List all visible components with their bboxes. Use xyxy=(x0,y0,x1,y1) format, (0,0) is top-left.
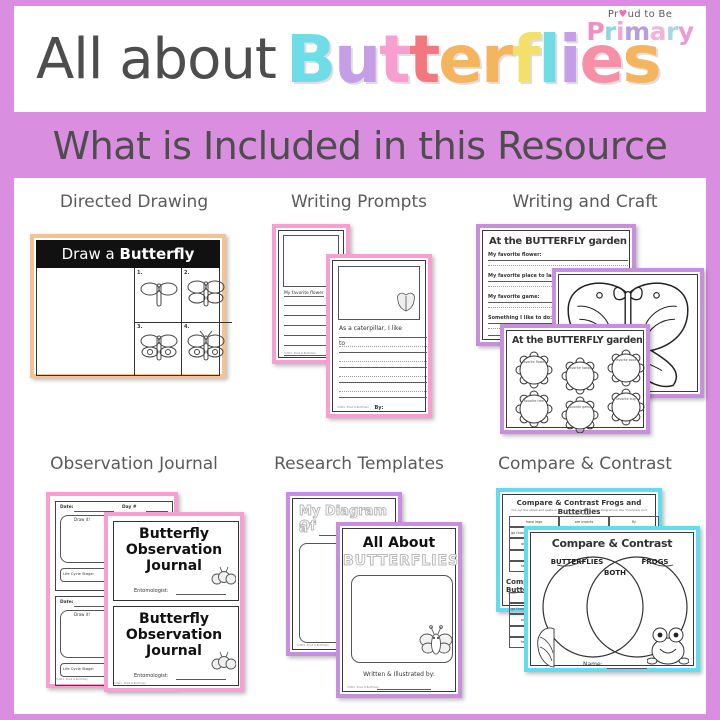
title-letter-7: l xyxy=(538,21,559,98)
butterfly-clipart-icon xyxy=(419,623,453,657)
title-letter-2: t xyxy=(379,21,409,98)
footer-credit: ©2021 - Proud to Be Primary xyxy=(56,678,88,681)
butterfly-step4-icon xyxy=(185,330,227,370)
flower-label-4: favorite tree xyxy=(524,399,544,403)
title-letter-6: f xyxy=(512,21,539,98)
garden-prompt-1: My favorite flower: xyxy=(488,252,542,258)
cover-line-1: Butterfly xyxy=(110,611,238,627)
journal-draw-label: Draw it! xyxy=(74,612,90,617)
title-letter-1: u xyxy=(334,21,379,98)
journal-date-label: Date: xyxy=(60,505,73,510)
frog-icon xyxy=(647,619,689,667)
section-title-directed-drawing: Directed Drawing xyxy=(14,192,254,212)
logo-primary: Primary xyxy=(584,19,696,44)
title-letter-4: e xyxy=(438,21,481,98)
footer-credit: ©2021 - Proud to Be Primary xyxy=(114,682,146,685)
garden-prompt-2: My favorite place to land: xyxy=(488,273,560,279)
caterpillar-icon xyxy=(210,651,236,673)
diagram-line-2: a xyxy=(299,521,308,536)
cover-line-2: Observation xyxy=(110,627,238,643)
flower-label-5: favorite game xyxy=(569,405,591,409)
footer-credit: ©2021 - Proud to Be Primary xyxy=(347,686,379,689)
journal-entomologist-label: Entomologist: xyxy=(134,588,169,594)
journal-day-label: Day # xyxy=(122,505,137,510)
journal-entomologist-label: Entomologist: xyxy=(134,673,169,679)
sort-instructions: Cut out the strips and paste in the corr… xyxy=(509,508,649,516)
flower-label-2: favorite hobby xyxy=(568,366,591,370)
footer-credit: ©2021 - Proud to Be Primary xyxy=(284,352,316,355)
journal-stage-label: Life Cycle Stage: xyxy=(63,572,94,576)
section-title-writing-and-craft: Writing and Craft xyxy=(464,192,706,212)
venn-label-left: BUTTERFLIES xyxy=(551,558,604,566)
resource-preview-page: All about Butterflies Pr♥ud to Be Primar… xyxy=(0,0,720,720)
butterfly-garden-flower-sheet[interactable]: At the BUTTERFLY garden f xyxy=(500,324,650,434)
title-plain: All about xyxy=(36,27,276,92)
flower-label-6: favorite bug xyxy=(616,397,635,401)
cover-line-2: Observation xyxy=(110,542,238,558)
journal-draw-label: Draw it! xyxy=(74,517,90,522)
writing-prompt-sheet-front[interactable]: As a caterpillar, I like to By: ©2021 - … xyxy=(326,254,432,418)
flower-grid: favorite flower favorite hobby favorite … xyxy=(511,349,649,433)
title-letter-3: t xyxy=(409,21,439,98)
research-title-line2: BUTTERFLIES xyxy=(343,553,455,569)
venn-name-label: Name: xyxy=(583,661,603,668)
caterpillar-icon xyxy=(210,566,236,588)
garden-heading: At the BUTTERFLY garden xyxy=(489,236,627,247)
subtitle-banner: What is Included in this Resource xyxy=(0,118,720,174)
butterfly-clipart-icon xyxy=(395,291,417,315)
flower-label-1: favorite flower xyxy=(522,360,546,364)
garden-prompt-4: Something I like to do: xyxy=(488,315,552,321)
section-title-compare-contrast: Compare & Contrast xyxy=(464,454,706,474)
flower-label-3: favorite book xyxy=(615,358,636,362)
title-letter-5: r xyxy=(481,21,512,98)
butterfly-step1-icon xyxy=(138,276,180,316)
butterfly-step2-icon xyxy=(185,276,227,316)
garden-prompt-3: My favorite game: xyxy=(488,294,539,300)
draw-a-label: Draw a xyxy=(62,245,115,263)
brand-logo: Pr♥ud to Be Primary xyxy=(584,10,696,44)
back-prompt-text: My favorite flower xyxy=(284,291,324,297)
butterfly-corner-icon xyxy=(534,625,574,669)
research-byline: Written & Illustrated by: xyxy=(343,671,455,678)
observation-journal-covers[interactable]: Butterfly Observation Journal Entomologi… xyxy=(104,512,244,692)
section-title-observation-journal: Observation Journal xyxy=(14,454,254,474)
venn-diagram-sheet[interactable]: Compare & Contrast BUTTERFLIES BOTH FROG… xyxy=(524,526,700,672)
venn-label-right: FROGS xyxy=(642,558,669,566)
subtitle-text: What is Included in this Resource xyxy=(53,124,668,168)
section-title-writing-prompts: Writing Prompts xyxy=(254,192,464,212)
garden-flower-heading: At the BUTTERFLY garden xyxy=(512,335,642,346)
content-area: Directed Drawing Writing Prompts Writing… xyxy=(14,178,706,714)
cover-line-1: Butterfly xyxy=(110,526,238,542)
butterfly-label: Butterfly xyxy=(120,245,195,263)
title-letter-8: i xyxy=(559,21,580,98)
title-letter-0: B xyxy=(286,21,334,98)
title-banner: All about Butterflies Pr♥ud to Be Primar… xyxy=(14,6,706,112)
section-title-research-templates: Research Templates xyxy=(254,454,464,474)
footer-credit: ©2021 - Proud to Be Primary xyxy=(297,644,329,647)
journal-date-label: Date: xyxy=(60,600,73,605)
research-title-line1: All About xyxy=(343,535,455,551)
front-prompt-line1: As a caterpillar, I like xyxy=(339,325,402,332)
venn-label-both: BOTH xyxy=(604,569,626,577)
footer-credit: ©2021 - Proud to Be Primary xyxy=(337,406,369,409)
venn-heading: Compare & Contrast xyxy=(531,537,693,550)
all-about-butterflies-sheet[interactable]: All About BUTTERFLIES Written & Illustra… xyxy=(336,522,462,698)
butterfly-step3-icon xyxy=(138,330,180,370)
journal-stage-label: Life Cycle Stage: xyxy=(63,667,94,671)
draw-a-butterfly-header: Draw a Butterfly xyxy=(36,240,220,268)
directed-drawing-sheet[interactable]: Draw a Butterfly 1. 2. 3. 4. xyxy=(30,234,226,378)
